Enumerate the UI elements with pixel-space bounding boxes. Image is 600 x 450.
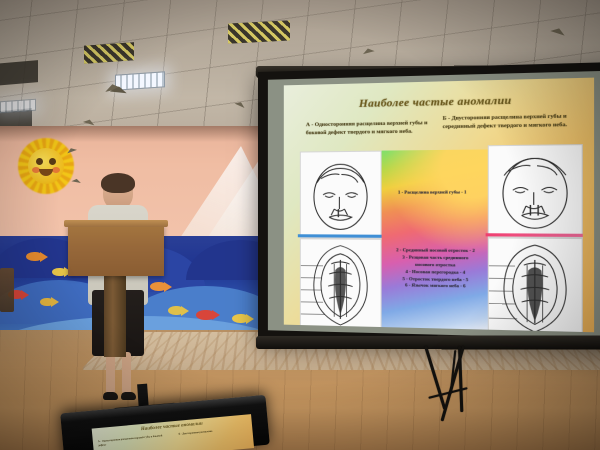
panel-face-front-right	[488, 144, 583, 238]
projection-screen[interactable]: Наиболее частые аномалии А - Односторонн…	[258, 62, 600, 350]
podium	[68, 224, 164, 276]
fish-icon	[26, 252, 42, 261]
sun-face-icon	[28, 148, 64, 184]
presenter-leg	[106, 352, 115, 394]
presenter-leg	[122, 352, 131, 394]
panel-face-front-left	[300, 151, 382, 239]
slide-caption-b: Б - Двусторонняя расщелина верхней губы …	[443, 112, 583, 131]
presentation-slide: Наиболее частые аномалии А - Односторонн…	[284, 78, 594, 333]
slide-divider-blue	[298, 234, 382, 238]
monitor-caption-a: А - Односторонняя расщелина верхней губы…	[98, 434, 164, 447]
presenter-shoe	[103, 392, 118, 400]
slide-divider-pink	[486, 233, 583, 237]
fish-icon	[168, 306, 183, 315]
slide-gradient-band	[377, 149, 487, 329]
monitor-caption-b: Б - Двусторонняя расщелина	[178, 427, 246, 437]
slide-legend-top: 1 - Расщелина верхней губы - 1	[382, 189, 484, 196]
ceiling-vent-panel	[84, 42, 134, 63]
photo-scene: Наиболее частые аномалии А - Односторонн…	[0, 0, 600, 450]
podium-stem	[104, 275, 126, 357]
ceiling-dark-tile	[0, 60, 38, 86]
presenter-hair	[101, 173, 135, 193]
slide-caption-a: А - Односторонняя расщелина верхней губы…	[306, 119, 430, 138]
slide-legend-list: 2 - Срединный носовой отросток - 2 3 - Р…	[377, 247, 494, 291]
panel-palate-right	[488, 237, 583, 332]
sun-decoration	[18, 138, 74, 194]
fish-icon	[52, 268, 66, 276]
fish-icon	[232, 314, 248, 323]
monitor-screen: Наиболее частые аномалии А - Односторонн…	[92, 414, 254, 450]
fish-icon	[40, 298, 53, 306]
ceiling-vent-panel	[228, 20, 290, 43]
ceiling-light-fixture	[0, 99, 36, 114]
wave-shape	[186, 240, 268, 280]
fish-icon	[150, 282, 166, 291]
screen-canvas: Наиболее частые аномалии А - Односторонн…	[268, 71, 600, 339]
presenter-shoe	[121, 392, 136, 400]
podium-top-edge	[64, 220, 168, 227]
chair	[0, 268, 14, 312]
monitor-slide-title: Наиболее частые аномалии	[92, 417, 252, 436]
slide-title: Наиболее частые аномалии	[284, 93, 594, 112]
fish-icon	[196, 310, 214, 320]
screen-bottom-bar	[256, 336, 600, 350]
panel-palate-left	[300, 238, 382, 329]
